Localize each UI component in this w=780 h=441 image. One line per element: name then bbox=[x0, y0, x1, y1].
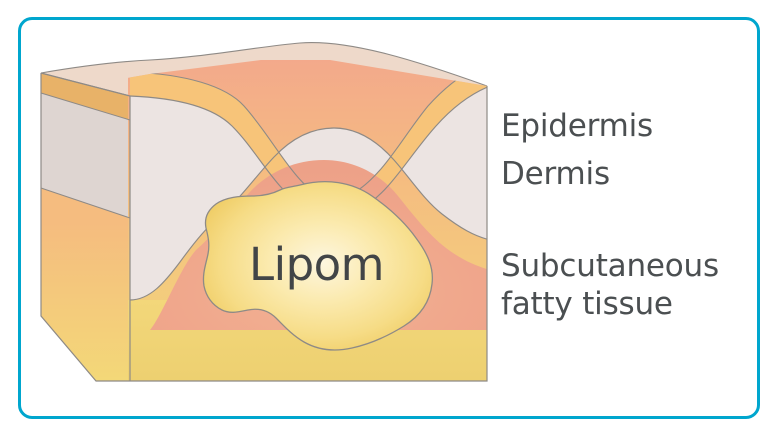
label-dermis: Dermis bbox=[501, 156, 610, 194]
figure-border bbox=[18, 17, 760, 419]
label-subcutaneous-fatty-tissue: Subcutaneous fatty tissue bbox=[501, 248, 719, 324]
label-epidermis: Epidermis bbox=[501, 108, 653, 146]
label-lipoma: Lipom bbox=[249, 238, 384, 291]
diagram-stage: Epidermis Dermis Subcutaneous fatty tiss… bbox=[0, 0, 780, 441]
